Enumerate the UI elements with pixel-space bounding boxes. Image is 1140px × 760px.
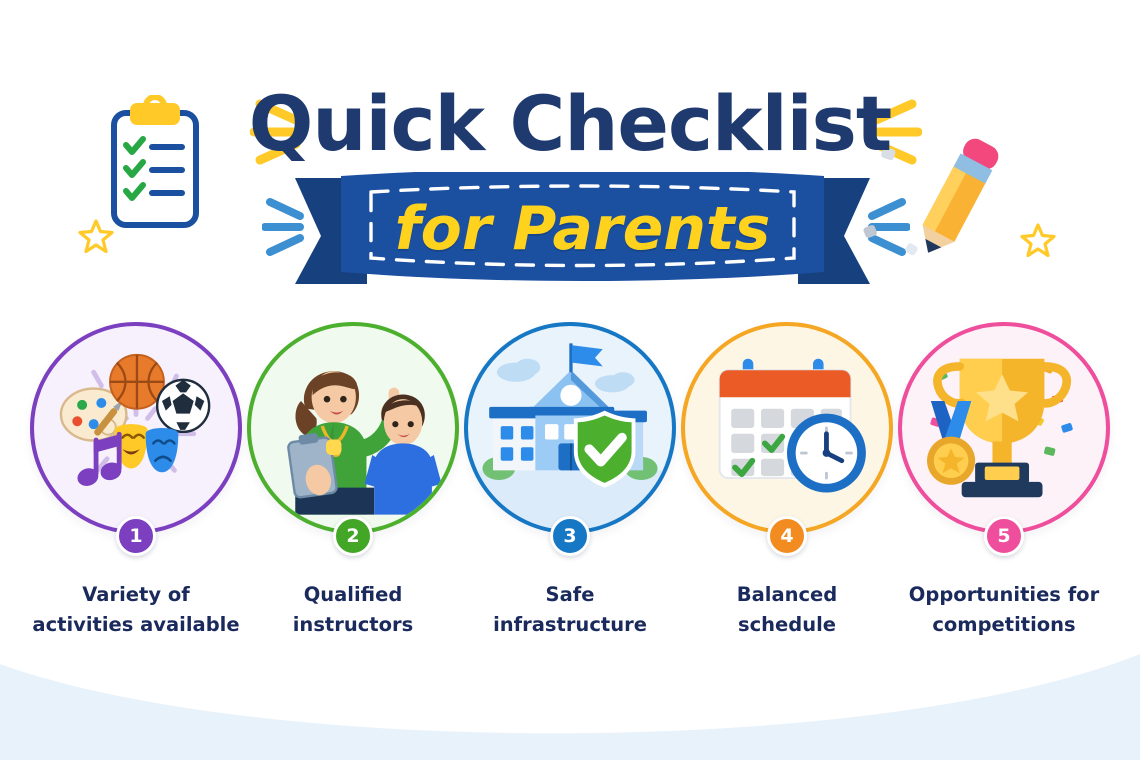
caption-line-1: Safe xyxy=(546,583,595,606)
star-yellow-right xyxy=(1020,222,1056,258)
caption-line-1: Opportunities for xyxy=(909,583,1099,606)
checklist-icon-circle-1: 1 xyxy=(30,322,242,534)
safe-school-icon xyxy=(464,322,676,534)
checklist-badge-2: 2 xyxy=(333,516,373,556)
checklist-icon-circle-3: 3 xyxy=(464,322,676,534)
trophy-medal-icon xyxy=(898,322,1110,534)
infographic-canvas: Quick Checklist for Parents xyxy=(0,0,1140,760)
checklist-icon-circle-4: 4 xyxy=(681,322,893,534)
caption-line-1: Qualified xyxy=(304,583,403,606)
bottom-wave-decoration xyxy=(0,630,1140,760)
checklist-item-2[interactable]: 2 Qualified instructors xyxy=(247,322,459,640)
checklist-badge-3: 3 xyxy=(550,516,590,556)
star-yellow-left xyxy=(78,218,114,254)
checklist-item-4[interactable]: 4 Balanced schedule xyxy=(681,322,893,640)
page-title: Quick Checklist xyxy=(0,82,1140,166)
checklist-item-5[interactable]: 5 Opportunities for competitions xyxy=(898,322,1110,640)
checklist-items: 1 Variety of activities available xyxy=(30,322,1110,640)
ribbon-banner: for Parents xyxy=(295,172,870,290)
activities-icon xyxy=(30,322,242,534)
checklist-icon-circle-5: 5 xyxy=(898,322,1110,534)
checklist-icon-circle-2: 2 xyxy=(247,322,459,534)
checklist-badge-1: 1 xyxy=(116,516,156,556)
calendar-clock-icon xyxy=(681,322,893,534)
caption-line-1: Balanced xyxy=(737,583,838,606)
checklist-item-1[interactable]: 1 Variety of activities available xyxy=(30,322,242,640)
checklist-item-3[interactable]: 3 Safe infrastructure xyxy=(464,322,676,640)
instructor-icon xyxy=(247,322,459,534)
ribbon-label: for Parents xyxy=(295,196,870,262)
header-section: Quick Checklist for Parents xyxy=(0,0,1140,310)
checklist-badge-5: 5 xyxy=(984,516,1024,556)
caption-line-1: Variety of xyxy=(82,583,189,606)
checklist-badge-4: 4 xyxy=(767,516,807,556)
